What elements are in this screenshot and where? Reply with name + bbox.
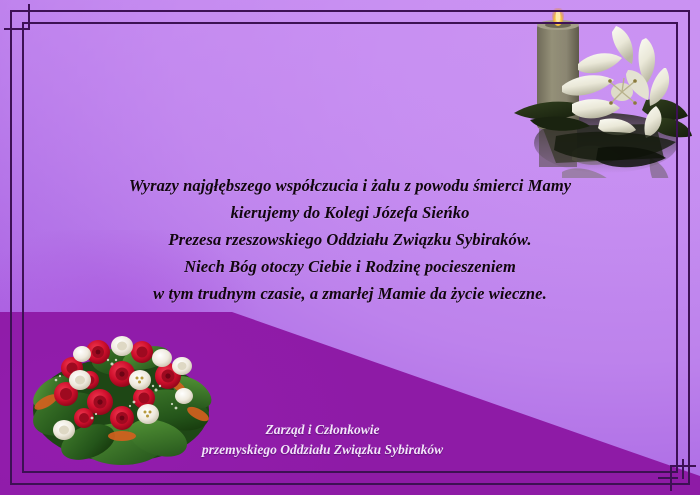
candle-and-lily-image: [506, 8, 696, 178]
message-line-1: Wyrazy najgłębszego współczucia i żalu z…: [0, 172, 700, 199]
frame-outer-bottom: [10, 483, 690, 485]
frame-inner-bottom: [22, 471, 678, 473]
signature-line-2: przemyskiego Oddziału Związku Sybiraków: [0, 440, 645, 460]
message-line-3: Prezesa rzeszowskiego Oddziału Związku S…: [0, 226, 700, 253]
signature-line-1: Zarząd i Członkowie: [0, 420, 645, 440]
frame-corner-top-left-vertical: [28, 4, 30, 30]
condolence-message: Wyrazy najgłębszego współczucia i żalu z…: [0, 172, 700, 307]
message-line-4: Niech Bóg otoczy Ciebie i Rodzinę pocies…: [0, 253, 700, 280]
frame-corner-bottom-right-horizontal-2: [658, 477, 678, 479]
frame-inner-top: [22, 22, 678, 24]
frame-corner-top-left-horizontal: [4, 28, 30, 30]
message-line-2: kierujemy do Kolegi Józefa Sieńko: [0, 199, 700, 226]
message-line-5: w tym trudnym czasie, a zmarłej Mamie da…: [0, 280, 700, 307]
condolence-card: Wyrazy najgłębszego współczucia i żalu z…: [0, 0, 700, 495]
frame-corner-bottom-right-vertical-2: [682, 459, 684, 479]
signature-block: Zarząd i Członkowie przemyskiego Oddział…: [0, 420, 645, 460]
candle-lily-illustration: [506, 8, 696, 178]
frame-outer-top: [10, 10, 690, 12]
